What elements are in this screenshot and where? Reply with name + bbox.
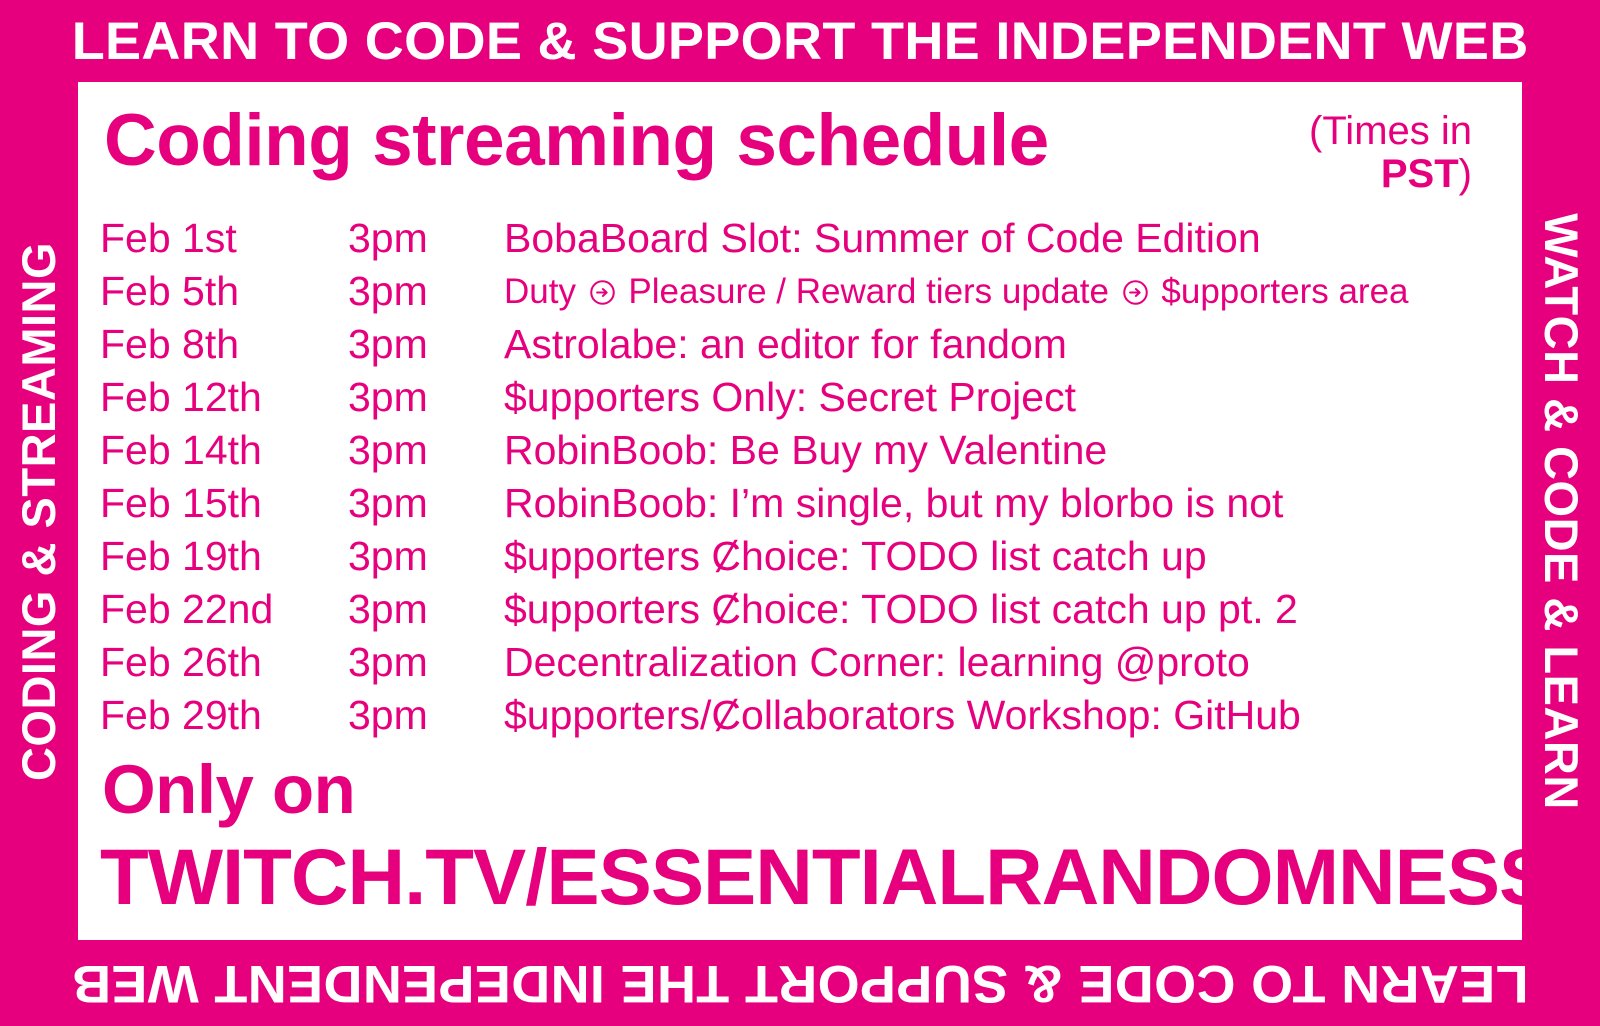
cta-twitch-url[interactable]: TWITCH.TV/ESSENTIALRANDOMNESS <box>100 837 1551 916</box>
timezone-suffix: ) <box>1459 152 1472 196</box>
schedule-title: RobinBoob: I’m single, but my blorbo is … <box>504 477 1283 530</box>
top-banner-text: LEARN TO CODE & SUPPORT THE INDEPENDENT … <box>72 15 1529 68</box>
schedule-date: Feb 29th <box>100 689 262 742</box>
schedule-row: Feb 1st3pmBobaBoard Slot: Summer of Code… <box>78 212 1522 265</box>
schedule-row: Feb 12th3pm$upporters Only: Secret Proje… <box>78 371 1522 424</box>
schedule-row: Feb 19th3pm$upporters Ȼhoice: TODO list … <box>78 530 1522 583</box>
schedule-title: $upporters Ȼhoice: TODO list catch up <box>504 530 1207 583</box>
cta-line-1: Only on <box>102 755 355 824</box>
schedule-time: 3pm <box>348 265 428 318</box>
schedule-row: Feb 14th3pmRobinBoob: Be Buy my Valentin… <box>78 424 1522 477</box>
bottom-banner: LEARN TO CODE & SUPPORT THE INDEPENDENT … <box>0 940 1600 1026</box>
schedule-title: Duty Pleasure / Reward tiers update $upp… <box>504 265 1409 318</box>
right-side-strip-text: WATCH & CODE & LEARN <box>1538 213 1585 810</box>
schedule-date: Feb 22nd <box>100 583 273 636</box>
bottom-banner-text: LEARN TO CODE & SUPPORT THE INDEPENDENT … <box>72 957 1529 1010</box>
timezone-note: (Times in PST) <box>1172 110 1472 196</box>
schedule-row: Feb 15th3pmRobinBoob: I’m single, but my… <box>78 477 1522 530</box>
schedule-title-part: Pleasure / Reward tiers update <box>619 272 1119 311</box>
schedule-date: Feb 14th <box>100 424 262 477</box>
schedule-row: Feb 29th3pm$upporters/Ȼollaborators Work… <box>78 689 1522 742</box>
page-title: Coding streaming schedule <box>104 104 1049 177</box>
schedule-time: 3pm <box>348 212 428 265</box>
schedule-title: Astrolabe: an editor for fandom <box>504 318 1067 371</box>
right-side-strip: WATCH & CODE & LEARN <box>1522 82 1600 940</box>
schedule-title-part: Duty <box>504 272 586 311</box>
schedule-row: Feb 5th3pmDuty Pleasure / Reward tiers u… <box>78 265 1522 318</box>
content-panel: Coding streaming schedule (Times in PST)… <box>78 82 1522 940</box>
schedule-row: Feb 22nd3pm$upporters Ȼhoice: TODO list … <box>78 583 1522 636</box>
schedule-row: Feb 8th3pmAstrolabe: an editor for fando… <box>78 318 1522 371</box>
schedule-time: 3pm <box>348 318 428 371</box>
top-banner: LEARN TO CODE & SUPPORT THE INDEPENDENT … <box>0 0 1600 82</box>
schedule-title: $upporters Only: Secret Project <box>504 371 1076 424</box>
arrow-right-circle-icon <box>589 279 616 306</box>
schedule-date: Feb 12th <box>100 371 262 424</box>
arrow-right-circle-icon <box>1122 279 1149 306</box>
schedule-title: $upporters/Ȼollaborators Workshop: GitHu… <box>504 689 1301 742</box>
schedule-time: 3pm <box>348 424 428 477</box>
schedule-date: Feb 19th <box>100 530 262 583</box>
schedule-row: Feb 26th3pmDecentralization Corner: lear… <box>78 636 1522 689</box>
schedule-time: 3pm <box>348 636 428 689</box>
schedule-date: Feb 5th <box>100 265 239 318</box>
left-side-strip-text: CODING & STREAMING <box>16 241 63 780</box>
heading-row: Coding streaming schedule (Times in PST) <box>78 98 1522 202</box>
schedule-time: 3pm <box>348 583 428 636</box>
schedule-title: RobinBoob: Be Buy my Valentine <box>504 424 1107 477</box>
schedule-table: Feb 1st3pmBobaBoard Slot: Summer of Code… <box>78 212 1522 742</box>
left-side-strip: CODING & STREAMING <box>0 82 78 940</box>
schedule-date: Feb 15th <box>100 477 262 530</box>
schedule-time: 3pm <box>348 530 428 583</box>
schedule-time: 3pm <box>348 371 428 424</box>
timezone-prefix: (Times in <box>1309 109 1472 153</box>
schedule-poster: LEARN TO CODE & SUPPORT THE INDEPENDENT … <box>0 0 1600 1026</box>
schedule-date: Feb 8th <box>100 318 239 371</box>
schedule-title: BobaBoard Slot: Summer of Code Edition <box>504 212 1261 265</box>
schedule-title: $upporters Ȼhoice: TODO list catch up pt… <box>504 583 1298 636</box>
schedule-time: 3pm <box>348 689 428 742</box>
schedule-time: 3pm <box>348 477 428 530</box>
schedule-title: Decentralization Corner: learning @proto <box>504 636 1250 689</box>
timezone-value: PST <box>1381 152 1459 196</box>
schedule-date: Feb 26th <box>100 636 262 689</box>
schedule-date: Feb 1st <box>100 212 237 265</box>
schedule-title-part: $upporters area <box>1152 272 1409 311</box>
